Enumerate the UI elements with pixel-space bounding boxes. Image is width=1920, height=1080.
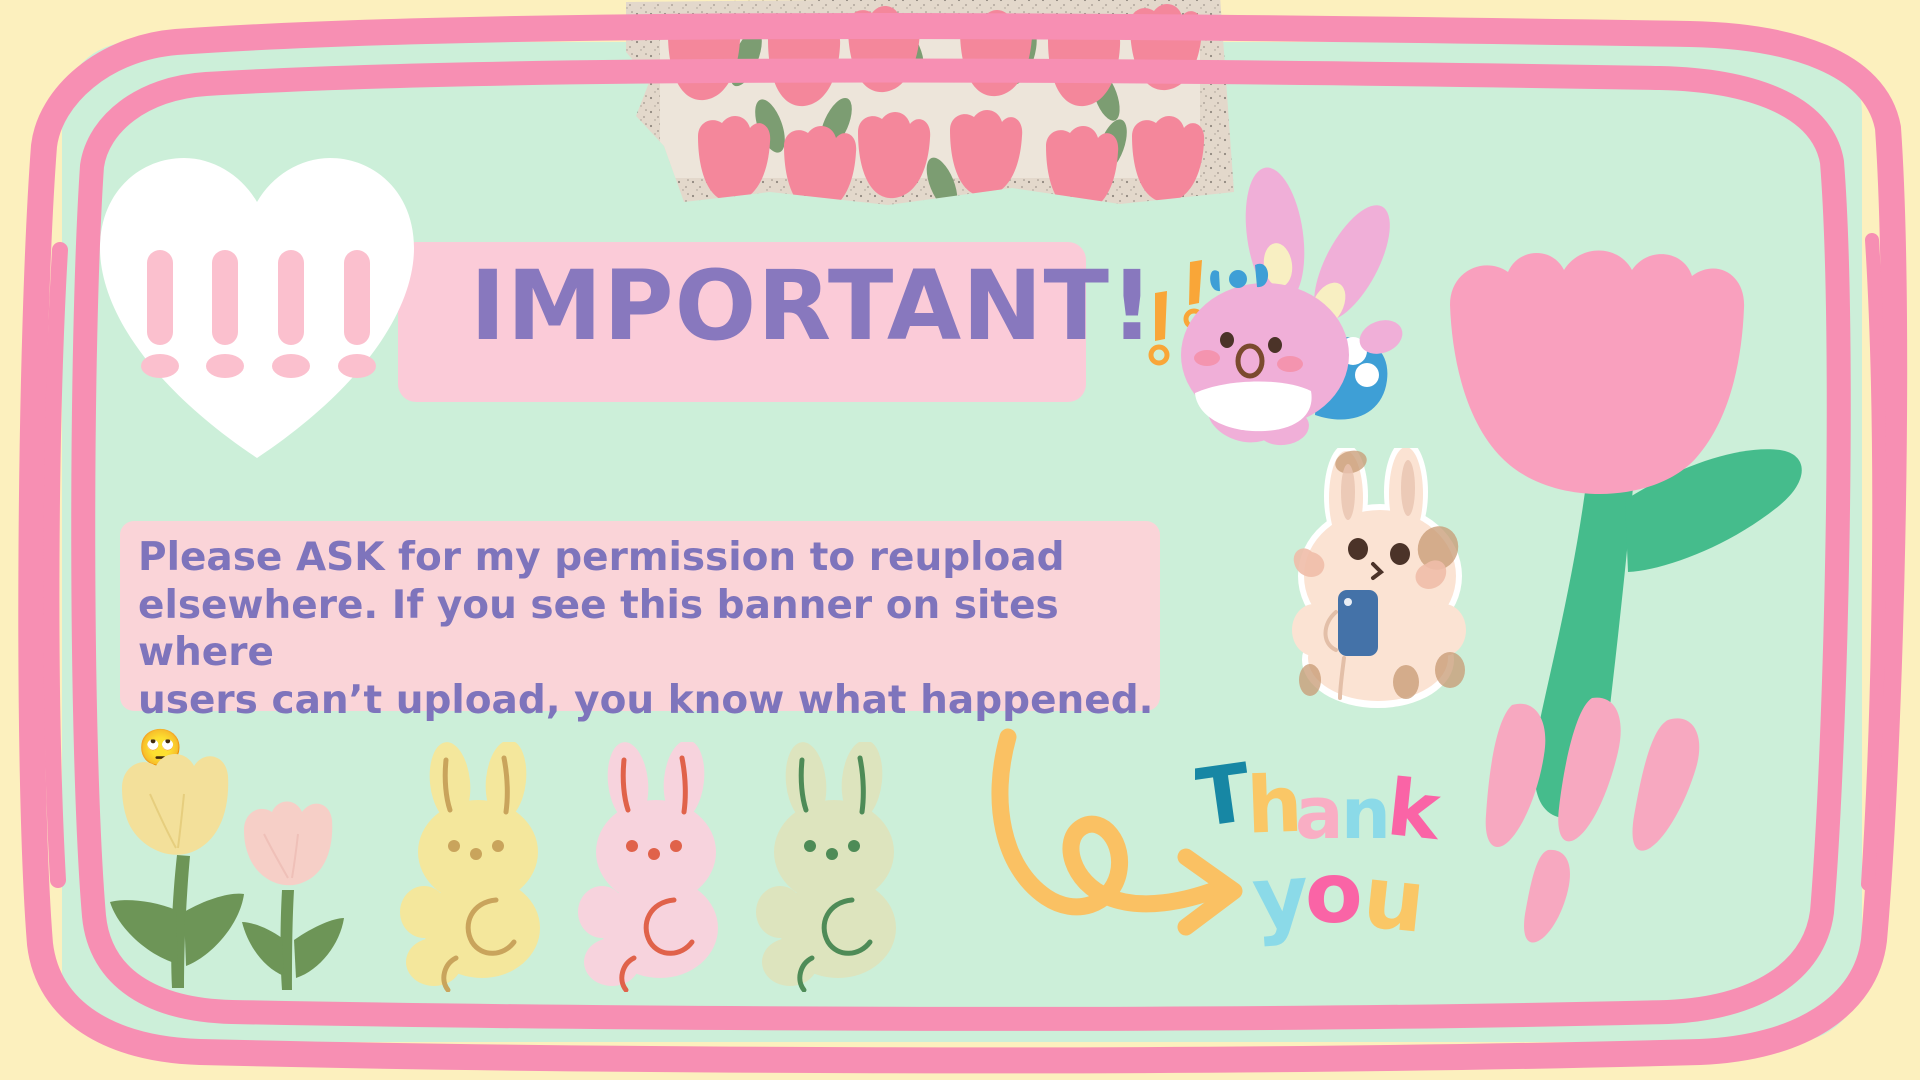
pink-tulip xyxy=(242,802,344,991)
white-heart-with-exclamations xyxy=(92,140,422,460)
message-line-1: Please ASK for my permission to reupload xyxy=(138,534,1173,582)
tulip-washi-tape xyxy=(620,0,1242,211)
gummy-bunny-row xyxy=(400,742,920,992)
yellow-gummy-bunny xyxy=(400,742,560,992)
large-pink-tulip xyxy=(1440,250,1850,950)
banner-canvas: IMPORTANT! xyxy=(0,0,1920,1080)
thankyou-letter-o: o xyxy=(1305,844,1363,942)
small-tulips-group xyxy=(92,750,382,1000)
yellow-tulip xyxy=(110,754,244,988)
cream-bunny-with-phone xyxy=(1278,448,1498,713)
washi-tape-body xyxy=(620,0,1242,211)
falling-petals xyxy=(1486,698,1700,943)
green-gummy-bunny xyxy=(756,742,916,992)
message-line-2: elsewhere. If you see this banner on sit… xyxy=(138,582,1173,677)
page-title: IMPORTANT! xyxy=(470,258,1155,354)
phone-icon xyxy=(1338,590,1378,656)
bunny-bow xyxy=(1210,264,1268,291)
thankyou-letter-a: a xyxy=(1295,771,1344,855)
thankyou-letter-u: u xyxy=(1358,847,1429,953)
pink-gummy-bunny xyxy=(578,742,738,992)
thank-you-lettering: T h a n k y o u xyxy=(1195,742,1495,962)
bunny-head-body xyxy=(1181,283,1349,451)
thankyou-letter-y: y xyxy=(1249,846,1312,950)
thankyou-letter-k: k xyxy=(1383,763,1446,858)
